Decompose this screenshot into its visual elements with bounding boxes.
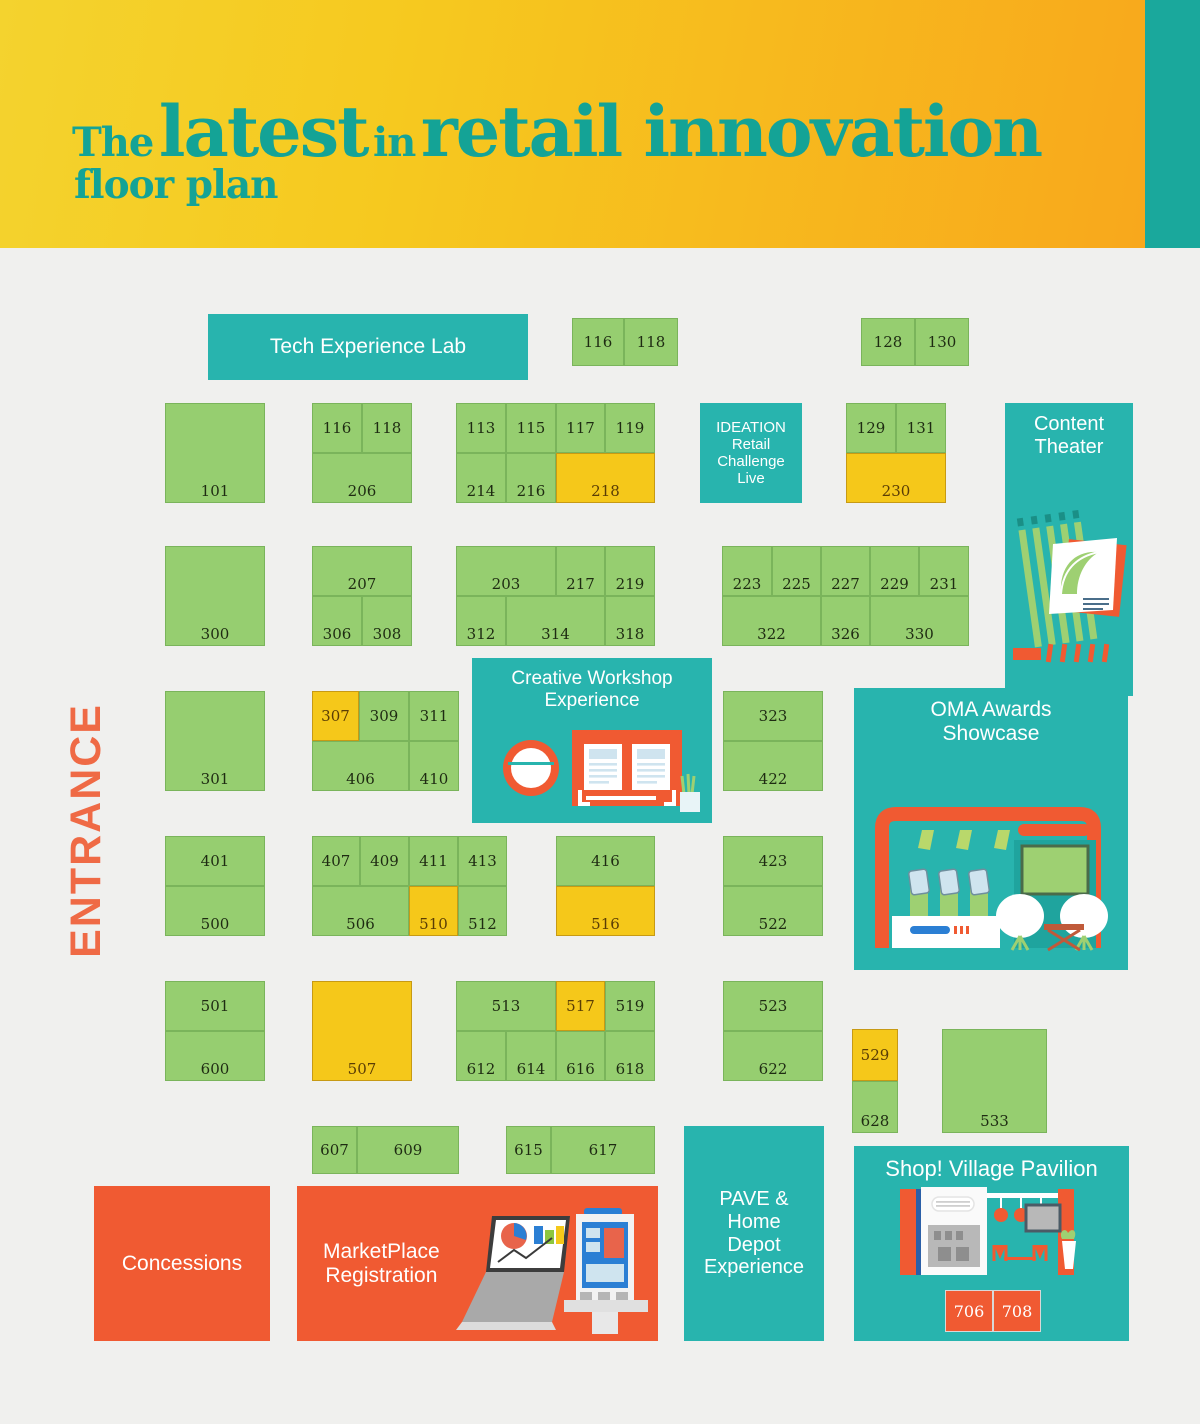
booth-309[interactable]: 309 <box>359 691 409 741</box>
booth-513[interactable]: 513 <box>456 981 556 1031</box>
booth-203[interactable]: 203 <box>456 546 556 596</box>
booth-300[interactable]: 300 <box>165 546 265 646</box>
booth-301[interactable]: 301 <box>165 691 265 791</box>
zone-tech-experience-lab-label: Tech Experience Lab <box>270 335 466 359</box>
entrance-label: ENTRANCE <box>62 703 111 958</box>
booth-116[interactable]: 116 <box>312 403 362 453</box>
page-title: The latest in retail innovation <box>72 90 1041 173</box>
booth-708[interactable]: 708 <box>993 1290 1041 1332</box>
booth-312[interactable]: 312 <box>456 596 506 646</box>
booth-117[interactable]: 117 <box>556 403 605 453</box>
booth-330[interactable]: 330 <box>870 596 969 646</box>
booth-118[interactable]: 118 <box>362 403 412 453</box>
floor-plan: ENTRANCE Tech Experience Lab 116 118 128… <box>0 248 1200 1424</box>
booth-507[interactable]: 507 <box>312 981 412 1081</box>
booth-501[interactable]: 501 <box>165 981 265 1031</box>
booth-416[interactable]: 416 <box>556 836 655 886</box>
booth-533[interactable]: 533 <box>942 1029 1047 1133</box>
booth-615[interactable]: 615 <box>506 1126 551 1174</box>
zone-pave-label: PAVE & Home Depot Experience <box>704 1188 804 1279</box>
booth-516[interactable]: 516 <box>556 886 655 936</box>
booth-622[interactable]: 622 <box>723 1031 823 1081</box>
booth-326[interactable]: 326 <box>821 596 870 646</box>
booth-411[interactable]: 411 <box>409 836 458 886</box>
booth-409[interactable]: 409 <box>360 836 409 886</box>
booth-231[interactable]: 231 <box>919 546 969 596</box>
booth-314[interactable]: 314 <box>506 596 605 646</box>
zone-concessions-label: Concessions <box>122 1252 242 1276</box>
booth-616[interactable]: 616 <box>556 1031 605 1081</box>
booth-113[interactable]: 113 <box>456 403 506 453</box>
zone-creative-workshop-label: Creative Workshop Experience <box>511 668 672 711</box>
booth-214[interactable]: 214 <box>456 453 506 503</box>
booth-307[interactable]: 307 <box>312 691 359 741</box>
booth-219[interactable]: 219 <box>605 546 655 596</box>
booth-529[interactable]: 529 <box>852 1029 898 1081</box>
zone-content-theater-label: Content Theater <box>1034 413 1104 459</box>
title-the: The <box>72 119 153 166</box>
booth-506[interactable]: 506 <box>312 886 409 936</box>
zone-tech-experience-lab[interactable]: Tech Experience Lab <box>208 314 528 380</box>
title-latest: latest <box>159 90 368 173</box>
booth-322[interactable]: 322 <box>722 596 821 646</box>
booth-115[interactable]: 115 <box>506 403 556 453</box>
booth-519[interactable]: 519 <box>605 981 655 1031</box>
booth-318[interactable]: 318 <box>605 596 655 646</box>
zone-ideation-label: IDEATION Retail Challenge Live <box>716 419 786 487</box>
booth-207[interactable]: 207 <box>312 546 412 596</box>
booth-628[interactable]: 628 <box>852 1081 898 1133</box>
booth-600[interactable]: 600 <box>165 1031 265 1081</box>
booth-500[interactable]: 500 <box>165 886 265 936</box>
booth-308[interactable]: 308 <box>362 596 412 646</box>
booth-230[interactable]: 230 <box>846 453 946 503</box>
booth-406[interactable]: 406 <box>312 741 409 791</box>
booth-119[interactable]: 119 <box>605 403 655 453</box>
title-retail-innovation: retail innovation <box>421 90 1041 173</box>
booth-614[interactable]: 614 <box>506 1031 556 1081</box>
booth-218[interactable]: 218 <box>556 453 655 503</box>
zone-oma-awards-showcase[interactable]: OMA Awards Showcase <box>854 688 1128 970</box>
booth-229[interactable]: 229 <box>870 546 919 596</box>
booth-517[interactable]: 517 <box>556 981 605 1031</box>
page-subtitle: floor plan <box>74 162 277 208</box>
zone-ideation[interactable]: IDEATION Retail Challenge Live <box>700 403 802 503</box>
booth-225[interactable]: 225 <box>772 546 821 596</box>
booth-130-top[interactable]: 130 <box>915 318 969 366</box>
booth-101[interactable]: 101 <box>165 403 265 503</box>
page-header: The latest in retail innovation floor pl… <box>0 0 1145 248</box>
zone-shop-village-label: Shop! Village Pavilion <box>885 1156 1097 1181</box>
booth-407[interactable]: 407 <box>312 836 360 886</box>
booth-401[interactable]: 401 <box>165 836 265 886</box>
header-teal-bar <box>1145 0 1200 248</box>
zone-marketplace-registration[interactable]: MarketPlace Registration <box>297 1186 658 1341</box>
title-in: in <box>373 119 415 166</box>
zone-oma-awards-label: OMA Awards Showcase <box>931 698 1052 746</box>
booth-618[interactable]: 618 <box>605 1031 655 1081</box>
zone-creative-workshop-experience[interactable]: Creative Workshop Experience <box>472 658 712 823</box>
booth-510[interactable]: 510 <box>409 886 458 936</box>
zone-content-theater[interactable]: Content Theater <box>1005 403 1133 696</box>
booth-423[interactable]: 423 <box>723 836 823 886</box>
zone-concessions[interactable]: Concessions <box>94 1186 270 1341</box>
booth-607[interactable]: 607 <box>312 1126 357 1174</box>
booth-116-top[interactable]: 116 <box>572 318 624 366</box>
booth-617[interactable]: 617 <box>551 1126 655 1174</box>
booth-206[interactable]: 206 <box>312 453 412 503</box>
zone-marketplace-registration-label: MarketPlace Registration <box>323 1240 440 1288</box>
booth-410[interactable]: 410 <box>409 741 459 791</box>
booth-422[interactable]: 422 <box>723 741 823 791</box>
booth-311[interactable]: 311 <box>409 691 459 741</box>
booth-227[interactable]: 227 <box>821 546 870 596</box>
booth-131[interactable]: 131 <box>896 403 946 453</box>
booth-217[interactable]: 217 <box>556 546 605 596</box>
booth-129[interactable]: 129 <box>846 403 896 453</box>
booth-323[interactable]: 323 <box>723 691 823 741</box>
booth-128-top[interactable]: 128 <box>861 318 915 366</box>
booth-512[interactable]: 512 <box>458 886 507 936</box>
booth-522[interactable]: 522 <box>723 886 823 936</box>
booth-413[interactable]: 413 <box>458 836 507 886</box>
booth-706[interactable]: 706 <box>945 1290 993 1332</box>
booth-306[interactable]: 306 <box>312 596 362 646</box>
zone-pave-home-depot-experience[interactable]: PAVE & Home Depot Experience <box>684 1126 824 1341</box>
booth-216[interactable]: 216 <box>506 453 556 503</box>
booth-612[interactable]: 612 <box>456 1031 506 1081</box>
booth-523[interactable]: 523 <box>723 981 823 1031</box>
booth-609[interactable]: 609 <box>357 1126 459 1174</box>
booth-223[interactable]: 223 <box>722 546 772 596</box>
booth-118-top[interactable]: 118 <box>624 318 678 366</box>
